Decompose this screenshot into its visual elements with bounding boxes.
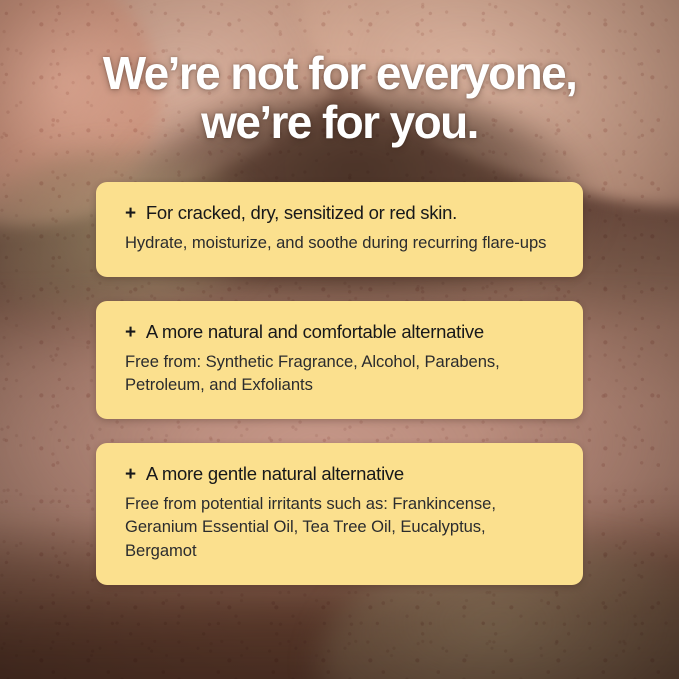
benefit-card-title-text: A more natural and comfortable alternati… bbox=[146, 320, 484, 344]
page-title: We’re not for everyone, we’re for you. bbox=[0, 49, 679, 147]
benefit-card: + A more natural and comfortable alterna… bbox=[96, 301, 583, 419]
benefit-card: + A more gentle natural alternative Free… bbox=[96, 443, 583, 585]
benefit-card-title-text: For cracked, dry, sensitized or red skin… bbox=[146, 201, 457, 225]
plus-icon: + bbox=[125, 465, 136, 484]
benefit-card-body: Free from potential irritants such as: F… bbox=[125, 492, 554, 563]
benefit-card-title: + A more natural and comfortable alterna… bbox=[125, 320, 554, 344]
benefit-card-body: Free from: Synthetic Fragrance, Alcohol,… bbox=[125, 350, 554, 397]
headline-line-1: We’re not for everyone, bbox=[103, 47, 577, 99]
benefit-card-title-text: A more gentle natural alternative bbox=[146, 462, 404, 486]
benefit-card-title: + A more gentle natural alternative bbox=[125, 462, 554, 486]
benefit-card-list: + For cracked, dry, sensitized or red sk… bbox=[96, 182, 583, 585]
promo-panel: We’re not for everyone, we’re for you. +… bbox=[0, 0, 679, 679]
benefit-card-title: + For cracked, dry, sensitized or red sk… bbox=[125, 201, 554, 225]
benefit-card-body: Hydrate, moisturize, and soothe during r… bbox=[125, 231, 554, 255]
plus-icon: + bbox=[125, 323, 136, 342]
benefit-card: + For cracked, dry, sensitized or red sk… bbox=[96, 182, 583, 277]
headline-line-2: we’re for you. bbox=[44, 98, 635, 147]
plus-icon: + bbox=[125, 204, 136, 223]
